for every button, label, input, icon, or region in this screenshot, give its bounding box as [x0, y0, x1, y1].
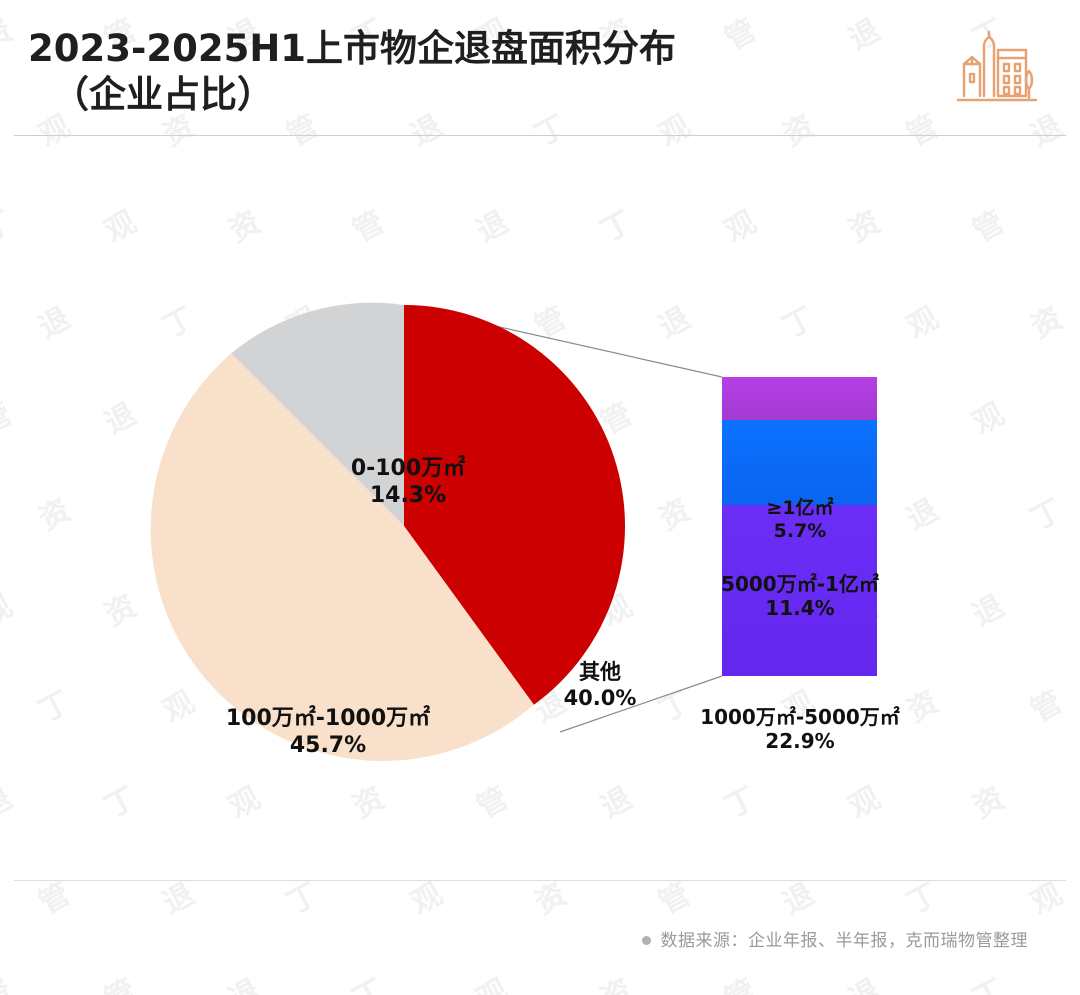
- watermark-glyph: 丁: [343, 966, 390, 995]
- watermark-glyph: 资: [591, 966, 638, 995]
- watermark-glyph: 观: [467, 966, 514, 995]
- data-source-text: 数据来源：企业年报、半年报，克而瑞物管整理: [661, 931, 1029, 951]
- bullet-dot-icon: [642, 936, 651, 945]
- pie-label-0-100-pct: 14.3%: [248, 483, 568, 510]
- header-divider: [14, 135, 1066, 136]
- pie-label-100-1000: 100万㎡-1000万㎡ 45.7%: [108, 706, 548, 760]
- pie-label-100-1000-pct: 45.7%: [108, 733, 548, 760]
- bar-label-1000w-5000w: 1000万㎡-5000万㎡ 22.9%: [672, 705, 928, 754]
- bar-label-1000w-5000w-pct: 22.9%: [672, 729, 928, 753]
- watermark-glyph: 管: [95, 966, 142, 995]
- watermark-glyph: 退: [839, 966, 886, 995]
- page-title: 2023-2025H1上市物企退盘面积分布 （企业占比）: [28, 26, 888, 119]
- page-title-line-2: （企业占比）: [28, 72, 888, 118]
- chart-footer: 数据来源：企业年报、半年报，克而瑞物管整理: [0, 920, 1080, 964]
- watermark-glyph: 退: [219, 966, 266, 995]
- watermark-glyph: 丁: [963, 966, 1010, 995]
- bar-label-ge-1yi-name: ≥1亿㎡: [766, 497, 833, 519]
- city-buildings-icon: [950, 30, 1040, 110]
- bar-label-5000w-1yi-name: 5000万㎡-1亿㎡: [721, 572, 879, 596]
- pie-of-bar-chart: [0, 140, 1080, 880]
- pie-label-100-1000-name: 100万㎡-1000万㎡: [226, 706, 430, 731]
- data-source-note: 数据来源：企业年报、半年报，克而瑞物管整理: [642, 926, 1029, 951]
- bar-segment-ge-1yi[interactable]: [722, 377, 877, 420]
- pie-label-0-100-name: 0-100万㎡: [351, 456, 465, 481]
- bar-label-5000w-1yi: 5000万㎡-1亿㎡ 11.4%: [680, 572, 920, 621]
- bar-segment-5000w-1yi[interactable]: [722, 420, 877, 505]
- chart-header: 2023-2025H1上市物企退盘面积分布 （企业占比）: [0, 0, 1080, 140]
- pie-label-0-100: 0-100万㎡ 14.3%: [248, 456, 568, 510]
- bar-label-5000w-1yi-pct: 11.4%: [680, 596, 920, 620]
- watermark-glyph: 管: [715, 966, 762, 995]
- bar-label-ge-1yi-pct: 5.7%: [700, 520, 900, 543]
- bar-label-1000w-5000w-name: 1000万㎡-5000万㎡: [700, 705, 900, 729]
- bar-label-ge-1yi: ≥1亿㎡ 5.7%: [700, 497, 900, 543]
- page-title-line-1: 2023-2025H1上市物企退盘面积分布: [28, 27, 676, 70]
- watermark-glyph: 资: [0, 966, 19, 995]
- pie-label-other: 其他 40.0%: [470, 660, 730, 711]
- footer-divider: [14, 880, 1066, 881]
- pie-label-other-name: 其他: [579, 660, 621, 684]
- chart-figure: 0-100万㎡ 14.3% 100万㎡-1000万㎡ 45.7% 其他 40.0…: [0, 140, 1080, 880]
